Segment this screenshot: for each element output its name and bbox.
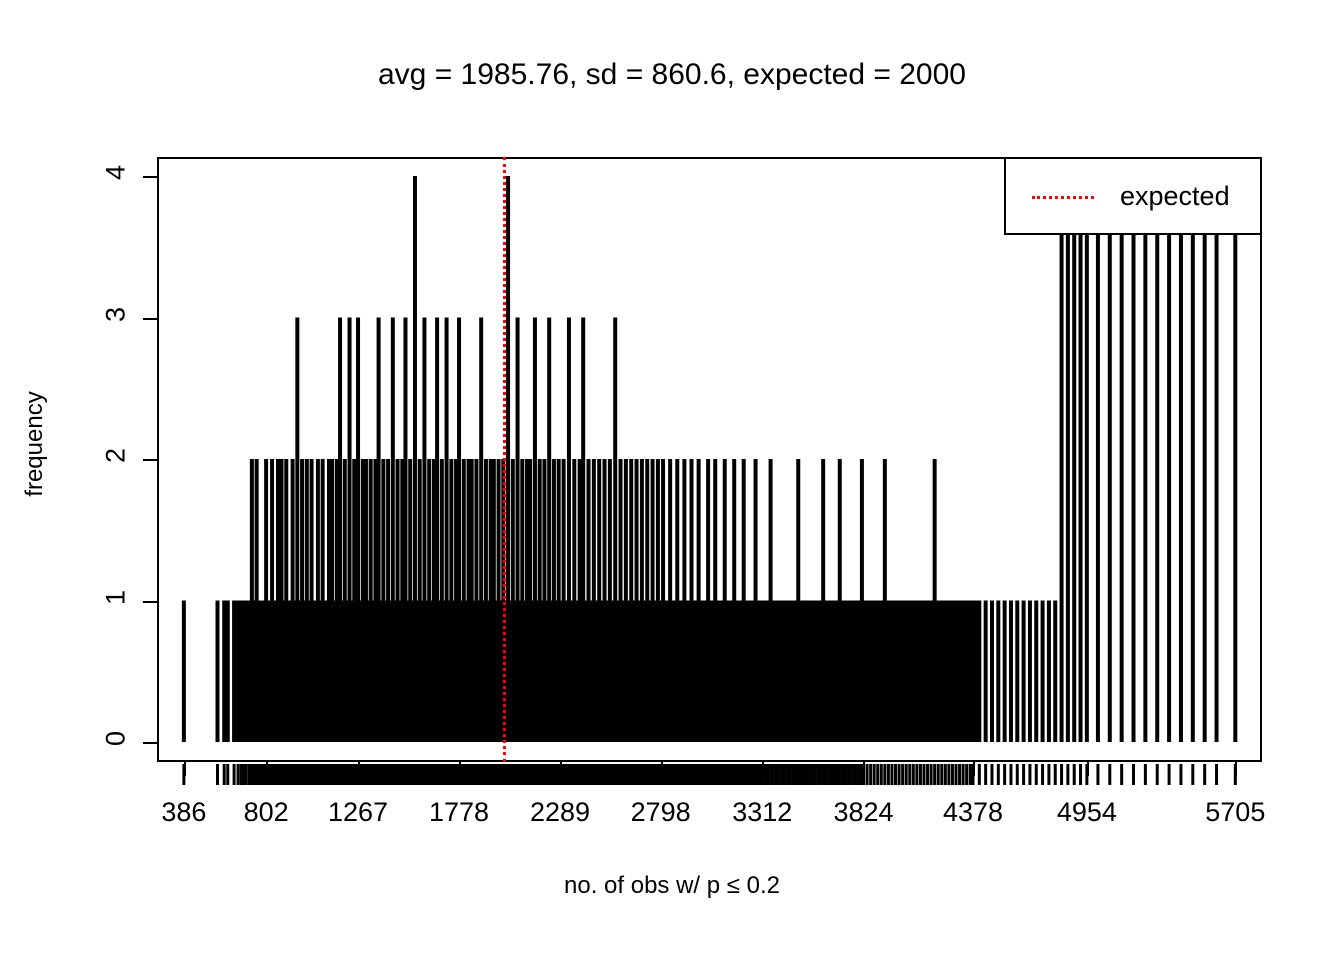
y-tick-label: 4 (101, 153, 132, 193)
y-tick-label: 1 (101, 577, 132, 617)
y-tick-label: 3 (101, 294, 132, 334)
y-tick-mark (143, 742, 157, 744)
y-tick-mark (143, 601, 157, 603)
x-tick-mark (762, 762, 764, 776)
bars-layer (157, 157, 1262, 762)
x-tick-label: 5705 (1165, 797, 1305, 828)
x-tick-mark (459, 762, 461, 776)
x-tick-mark (560, 762, 562, 776)
x-tick-mark (358, 762, 360, 776)
rug-layer (157, 764, 1262, 788)
expected-reference-line (503, 157, 506, 762)
legend-expected-label: expected (1120, 181, 1230, 212)
x-tick-label: 4954 (1017, 797, 1157, 828)
histogram-plot: avg = 1985.76, sd = 860.6, expected = 20… (0, 0, 1344, 960)
y-tick-mark (143, 459, 157, 461)
x-tick-mark (1087, 762, 1089, 776)
y-tick-label: 2 (101, 436, 132, 476)
x-tick-mark (863, 762, 865, 776)
x-tick-mark (266, 762, 268, 776)
x-tick-mark (184, 762, 186, 776)
x-tick-mark (1235, 762, 1237, 776)
y-tick-mark (143, 176, 157, 178)
x-tick-mark (661, 762, 663, 776)
y-tick-label: 0 (101, 719, 132, 759)
plot-title: avg = 1985.76, sd = 860.6, expected = 20… (0, 58, 1344, 92)
legend-expected-line-icon (1032, 196, 1094, 199)
y-tick-mark (143, 318, 157, 320)
x-axis-label: no. of obs w/ p ≤ 0.2 (0, 872, 1344, 900)
x-tick-mark (973, 762, 975, 776)
y-axis-label: frequency (21, 374, 49, 514)
